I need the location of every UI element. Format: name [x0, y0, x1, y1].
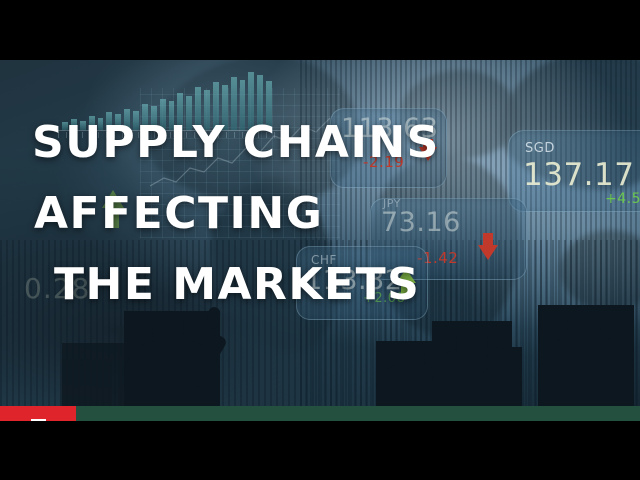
video-frame: 113.63 -2.19 SGD 137.17 +4.58 JPY 73.16 … — [0, 60, 640, 421]
ticker-price: 137.17 — [523, 157, 634, 193]
letterbox-top — [0, 0, 640, 60]
ticker-symbol: SGD — [525, 141, 555, 156]
swiss-flag-icon — [0, 406, 76, 421]
letterbox-bottom — [0, 421, 640, 480]
video-thumbnail: 113.63 -2.19 SGD 137.17 +4.58 JPY 73.16 … — [0, 0, 640, 480]
title-line-3: THE MARKETS — [32, 249, 512, 320]
lower-third-banner: Live Trading with Doc — [0, 406, 640, 421]
page-title: SUPPLY CHAINS AFFECTING THE MARKETS — [32, 107, 512, 320]
ticker-change: +4.58 — [605, 191, 640, 207]
silhouette-person-2-raised-hand — [124, 311, 220, 421]
banner-body: Live Trading with Doc — [76, 406, 640, 421]
ticker-card-sgd: SGD 137.17 +4.58 — [508, 130, 640, 212]
title-line-2: AFFECTING — [32, 178, 512, 249]
silhouette-person-6 — [538, 305, 634, 421]
title-line-1: SUPPLY CHAINS — [32, 107, 512, 178]
